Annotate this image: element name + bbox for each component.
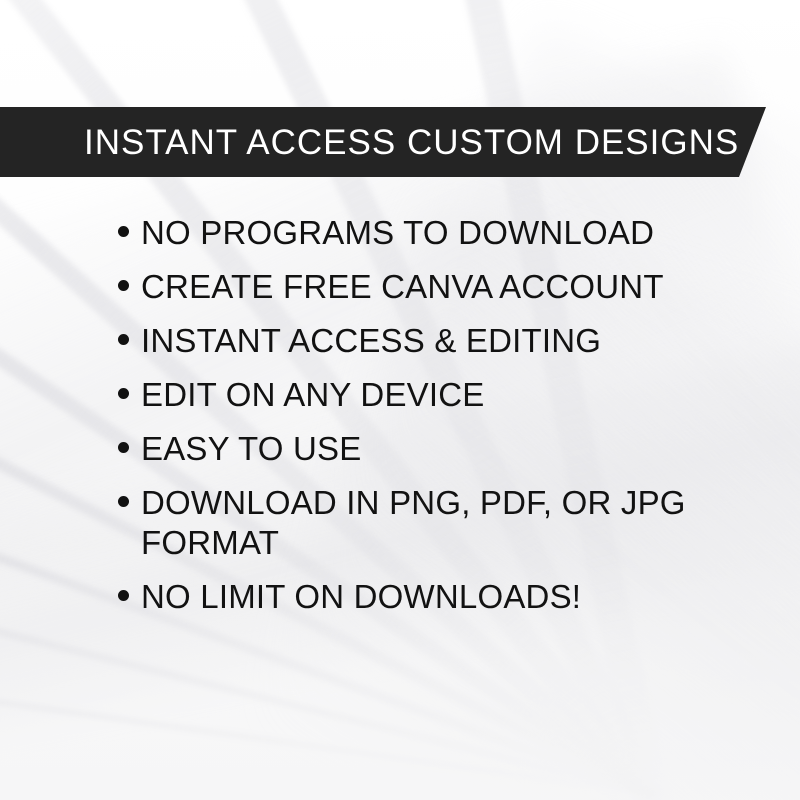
list-item-label: EDIT ON ANY DEVICE: [141, 375, 484, 416]
list-item-label: DOWNLOAD IN PNG, PDF, OR JPG FORMAT: [141, 483, 686, 565]
bullet-icon: [118, 590, 129, 601]
bullet-icon: [118, 226, 129, 237]
list-item: EASY TO USE: [118, 429, 718, 470]
bullet-icon: [118, 442, 129, 453]
bullet-icon: [118, 280, 129, 291]
promo-graphic: INSTANT ACCESS CUSTOM DESIGNS NO PROGRAM…: [0, 0, 800, 800]
list-item: INSTANT ACCESS & EDITING: [118, 321, 718, 362]
list-item: NO LIMIT ON DOWNLOADS!: [118, 577, 718, 618]
bullet-icon: [118, 496, 129, 507]
list-item: EDIT ON ANY DEVICE: [118, 375, 718, 416]
list-item-label: NO LIMIT ON DOWNLOADS!: [141, 577, 581, 618]
list-item-label: INSTANT ACCESS & EDITING: [141, 321, 601, 362]
list-item: DOWNLOAD IN PNG, PDF, OR JPG FORMAT: [118, 483, 718, 565]
list-item-label: CREATE FREE CANVA ACCOUNT: [141, 267, 664, 308]
list-item: NO PROGRAMS TO DOWNLOAD: [118, 213, 718, 254]
bullet-icon: [118, 388, 129, 399]
feature-list: NO PROGRAMS TO DOWNLOAD CREATE FREE CANV…: [118, 213, 718, 631]
title-banner: INSTANT ACCESS CUSTOM DESIGNS: [0, 107, 770, 177]
bullet-icon: [118, 334, 129, 345]
banner-title-text: INSTANT ACCESS CUSTOM DESIGNS: [84, 125, 739, 160]
list-item-label: EASY TO USE: [141, 429, 361, 470]
list-item: CREATE FREE CANVA ACCOUNT: [118, 267, 718, 308]
list-item-label: NO PROGRAMS TO DOWNLOAD: [141, 213, 654, 254]
